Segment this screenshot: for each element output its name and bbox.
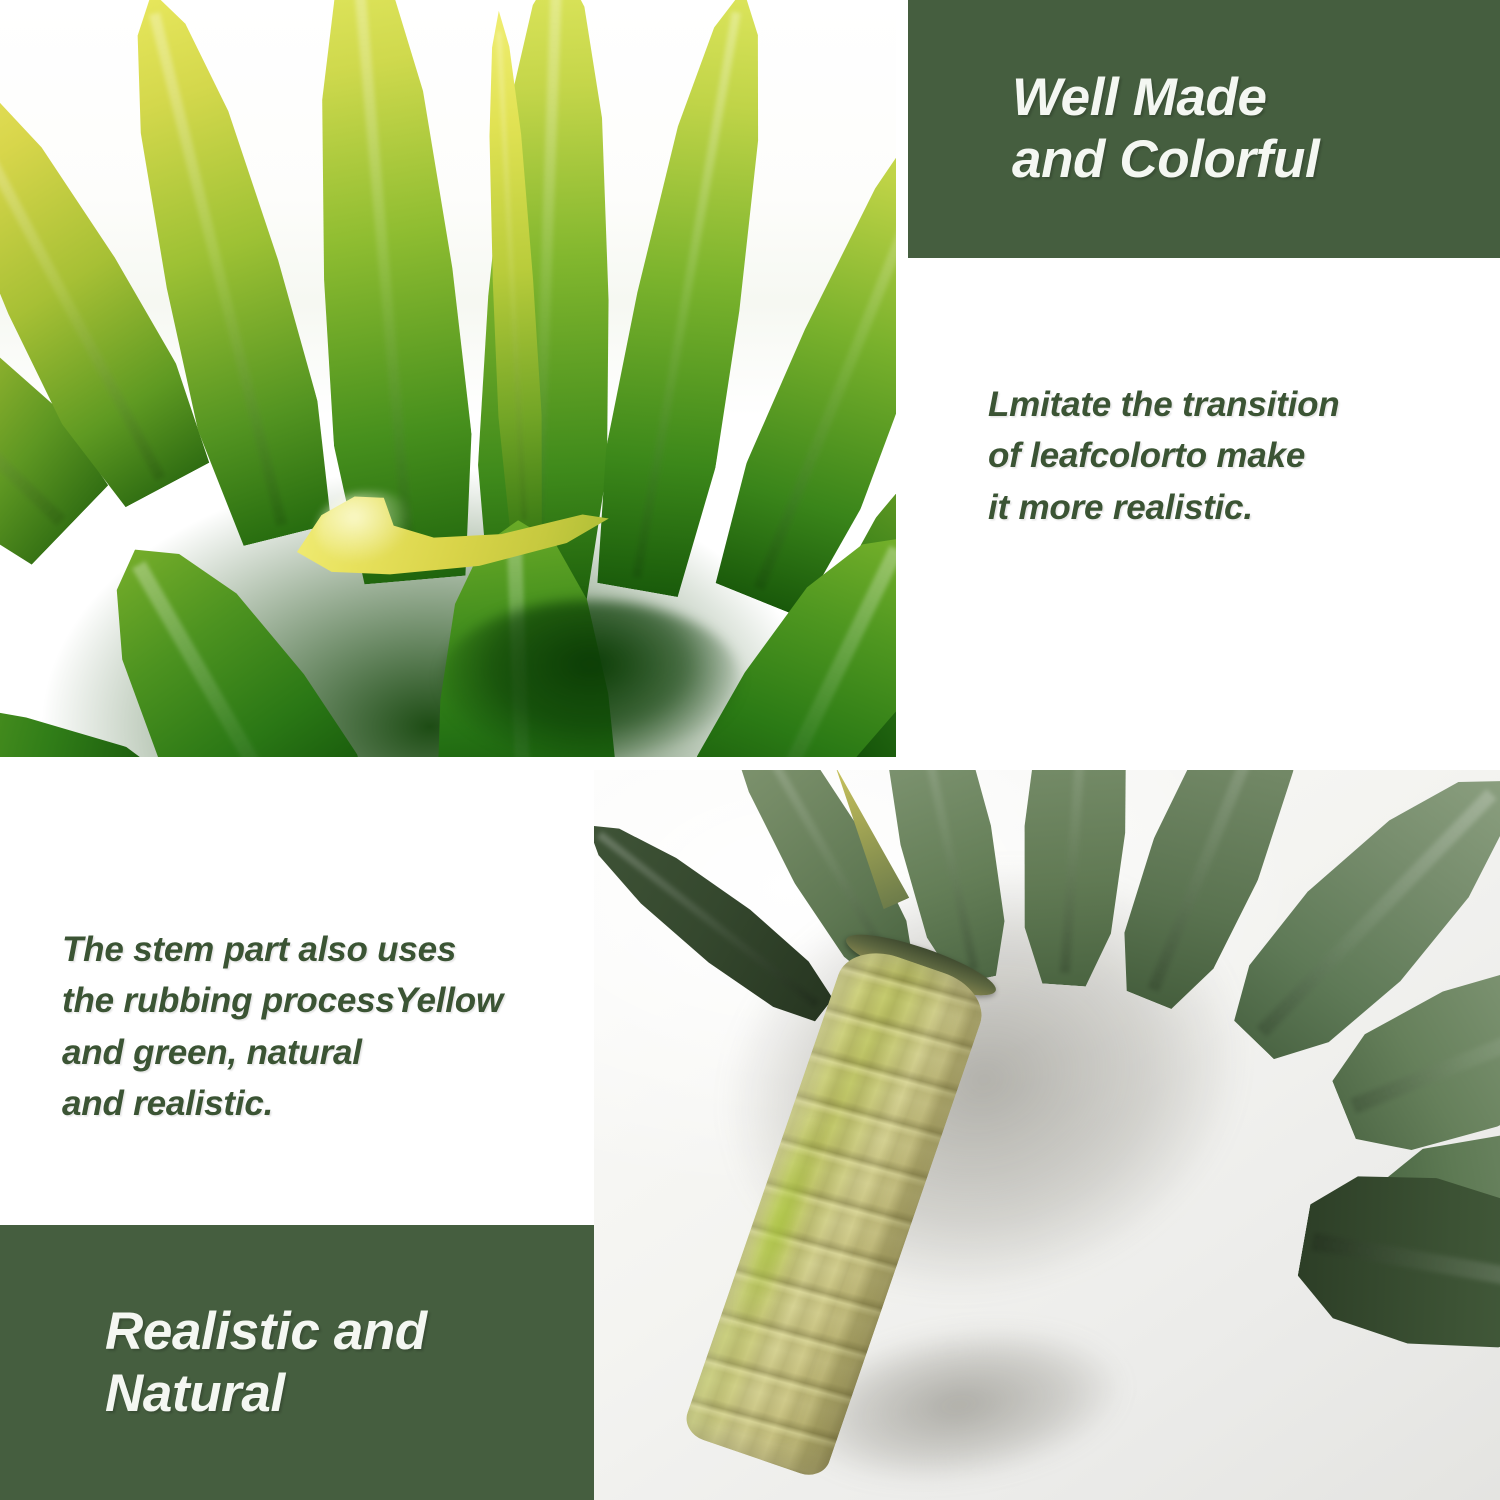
color-transition-copy: Lmitate the transition of leafcolorto ma…	[988, 379, 1458, 533]
stem-process-copy: The stem part also uses the rubbing proc…	[62, 924, 582, 1130]
banner-title: Well Made and Colorful	[1012, 67, 1500, 191]
plant-crown-core	[440, 600, 740, 757]
agave-stem-underside-photo	[594, 770, 1500, 1500]
banner-title: Realistic and Natural	[105, 1301, 594, 1425]
infographic-page: Well Made and Colorful Lmitate the trans…	[0, 0, 1500, 1500]
banner-well-made-and-colorful: Well Made and Colorful	[908, 0, 1500, 258]
banner-realistic-and-natural: Realistic and Natural	[0, 1225, 594, 1500]
agave-leaves-closeup-photo	[0, 0, 896, 757]
curled-yellow-leaf-highlight	[316, 492, 412, 564]
